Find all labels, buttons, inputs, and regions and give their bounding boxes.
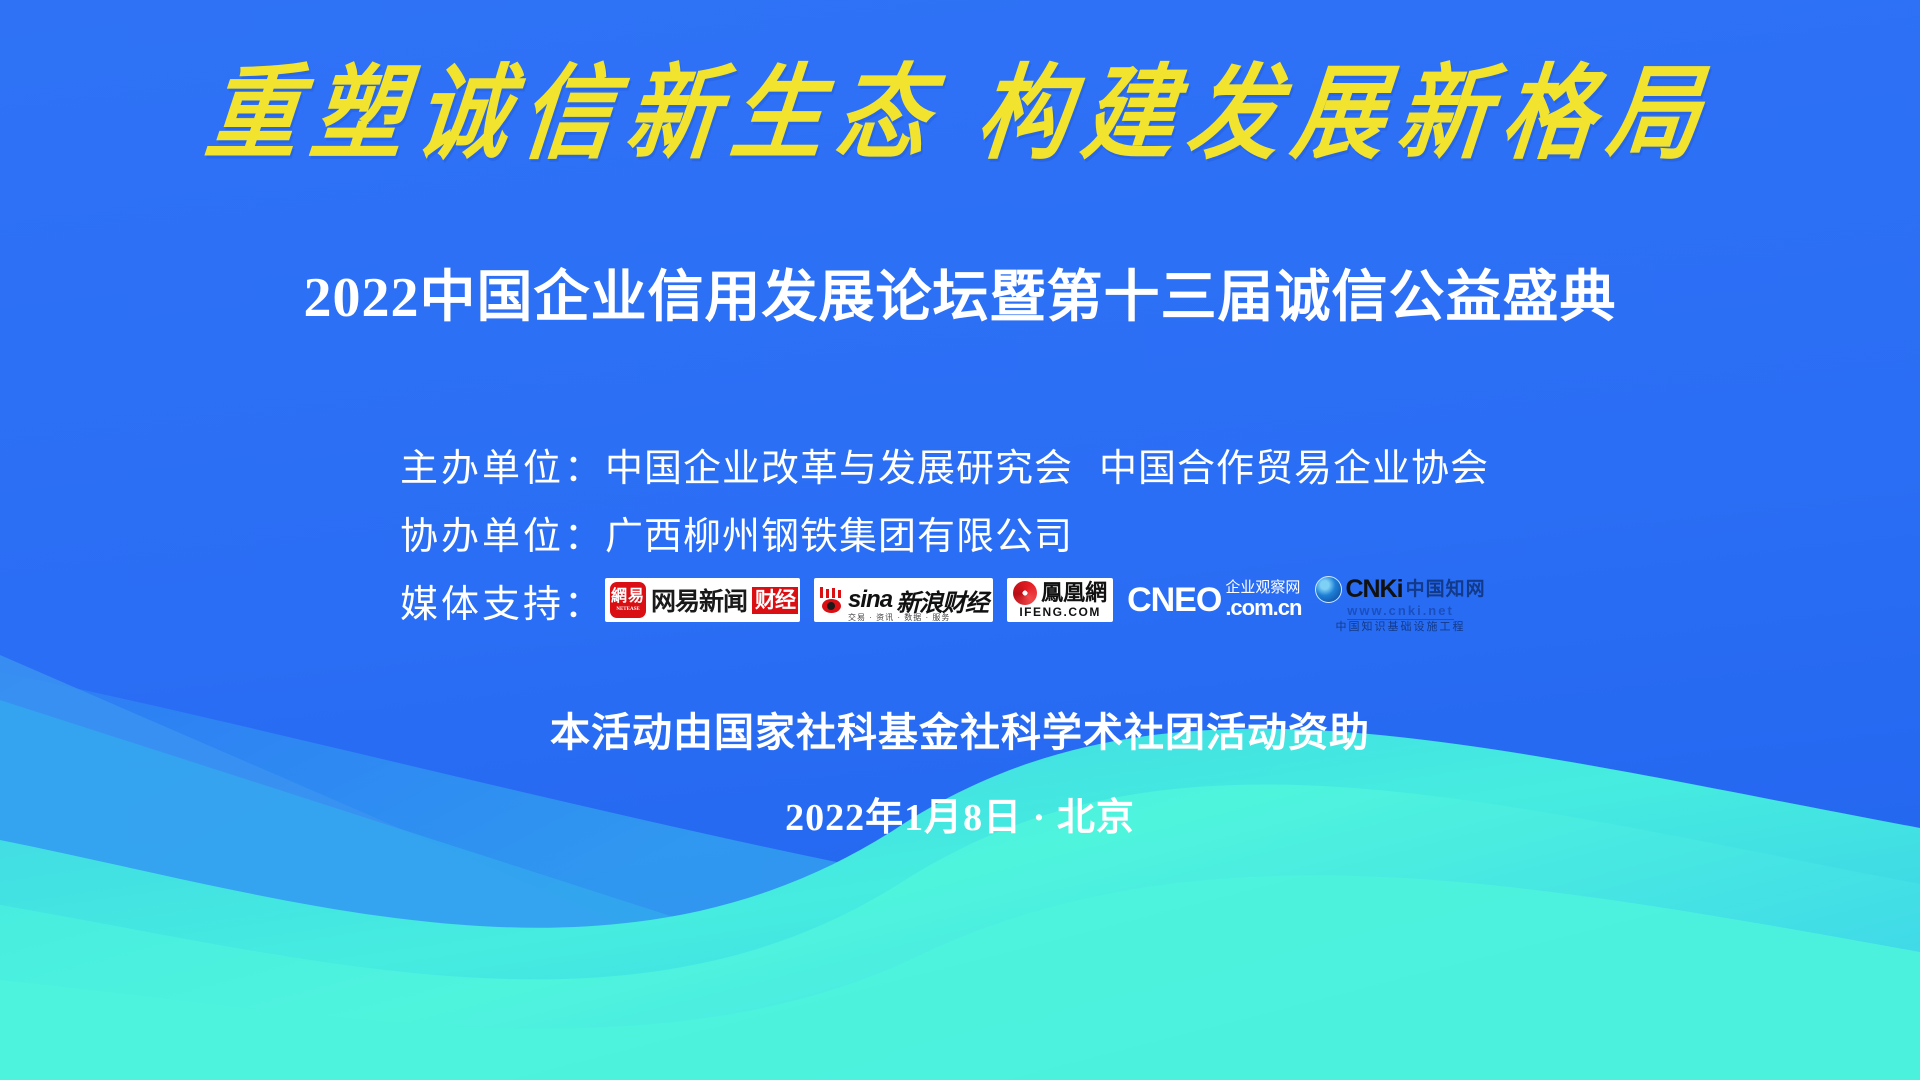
headline-part-2: 构建发展新格局 (972, 52, 1720, 173)
host-row: 主办单位： 中国企业改革与发展研究会中国合作贸易企业协会 (400, 430, 1600, 498)
sina-wordmark: sina (848, 586, 892, 614)
globe-icon (1315, 576, 1342, 603)
cneo-wordmark: CNEO (1127, 583, 1221, 617)
sina-tagline: 交易 · 资讯 · 数据 · 服务 (848, 612, 950, 623)
organizer-block: 主办单位： 中国企业改革与发展研究会中国合作贸易企业协会 协办单位： 广西柳州钢… (400, 430, 1600, 634)
sina-eye-icon (818, 587, 844, 613)
event-poster: 重塑诚信新生态构建发展新格局 2022中国企业信用发展论坛暨第十三届诚信公益盛典… (0, 0, 1920, 1080)
host-org-1: 中国企业改革与发展研究会 (605, 448, 1073, 490)
ifeng-top-row: 鳳凰網 (1013, 581, 1107, 605)
sina-finance-logo: sina 新浪财经 交易 · 资讯 · 数据 · 服务 (814, 578, 993, 622)
coorganizer-row: 协办单位： 广西柳州钢铁集团有限公司 (400, 498, 1600, 566)
sina-eyeball-icon (822, 599, 841, 613)
cnki-tagline: 中国知识基础设施工程 (1336, 620, 1466, 634)
funding-note: 本活动由国家社科基金社科学术社团活动资助 (0, 700, 1920, 758)
cneo-domain: .com.cn (1225, 597, 1301, 619)
date-location: 2022年1月8日 · 北京 (0, 786, 1920, 841)
host-org-2: 中国合作贸易企业协会 (1099, 448, 1489, 490)
host-label: 主办单位： (400, 437, 605, 492)
media-logo-list: 網易 NETEASE 网易新闻 财经 sina 新浪财经 (605, 576, 1486, 624)
cnki-top-row: CNKi 中国知网 (1315, 576, 1485, 603)
cneo-right-block: 企业观察网 .com.cn (1225, 581, 1301, 619)
cnki-wordmark: CNKi (1345, 577, 1402, 602)
ifeng-logo: 鳳凰網 IFENG.COM (1007, 578, 1113, 622)
ifeng-name: 鳳凰網 (1041, 582, 1107, 604)
page-title: 重塑诚信新生态构建发展新格局 (0, 56, 1920, 171)
phoenix-icon (1013, 581, 1037, 605)
sina-lash-icon (820, 587, 842, 599)
cnki-logo: CNKi 中国知网 www.cnki.net 中国知识基础设施工程 (1315, 576, 1485, 624)
cneo-logo: CNEO 企业观察网 .com.cn (1127, 578, 1301, 622)
media-support-row: 媒体支持： 網易 NETEASE 网易新闻 财经 (400, 566, 1600, 634)
media-support-label: 媒体支持： (400, 573, 605, 628)
netease-badge-sub: NETEASE (616, 607, 639, 612)
cnki-url: www.cnki.net (1347, 603, 1454, 620)
headline-part-1: 重塑诚信新生态 (201, 52, 949, 173)
event-subtitle: 2022中国企业信用发展论坛暨第十三届诚信公益盛典 (0, 252, 1920, 333)
netease-finance-tag: 财经 (752, 587, 798, 614)
coorganizer-label: 协办单位： (400, 505, 605, 560)
coorganizer-value: 广西柳州钢铁集团有限公司 (605, 505, 1073, 560)
netease-news-logo: 網易 NETEASE 网易新闻 财经 (605, 578, 800, 622)
ifeng-url: IFENG.COM (1019, 605, 1101, 619)
netease-badge-text: 網易 (611, 589, 645, 605)
host-value: 中国企业改革与发展研究会中国合作贸易企业协会 (605, 437, 1489, 492)
cnki-name: 中国知网 (1406, 580, 1486, 599)
netease-badge-icon: 網易 NETEASE (610, 582, 646, 618)
netease-name: 网易新闻 (651, 582, 747, 618)
